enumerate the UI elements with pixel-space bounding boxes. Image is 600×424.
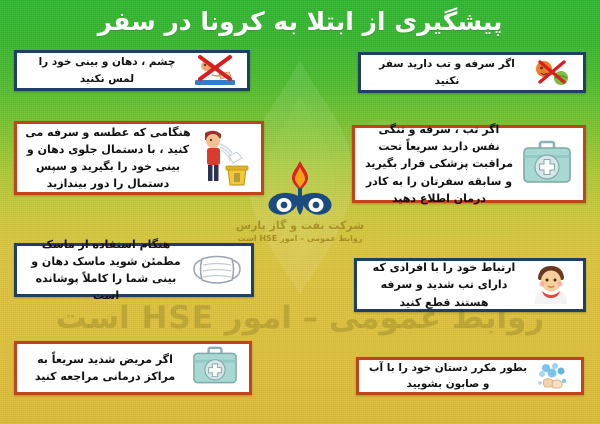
no-travel-icon xyxy=(529,54,575,92)
nioc-flame-logo-icon xyxy=(263,160,337,218)
tip-text: اگر مریض شدید سریعاً به مراکز درمانی مرا… xyxy=(21,351,189,385)
tip-severe-illness: اگر مریض شدید سریعاً به مراکز درمانی مرا… xyxy=(14,341,252,395)
medical-kit-icon xyxy=(189,345,241,391)
tip-text: اگر سرفه و تب دارید سفر نکنید xyxy=(365,56,529,89)
tip-text: اگر تب ، سرفه و تنگی نفس دارید سریعاً تح… xyxy=(359,121,519,206)
tip-no-travel: اگر سرفه و تب دارید سفر نکنید xyxy=(358,52,586,93)
tip-mask-fit: هنگام استفاده از ماسک مطمئن شوید ماسک ده… xyxy=(14,243,254,297)
tip-avoid-contact: ارتباط خود را با افرادی که دارای تب شدید… xyxy=(354,258,586,312)
infographic-poster: روابط عمومی – امور HSE است پیشگیری از اب… xyxy=(0,0,600,424)
no-touch-face-icon xyxy=(193,52,239,90)
tip-text: ارتباط خود را با افرادی که دارای تب شدید… xyxy=(361,259,527,310)
page-title: پیشگیری از ابتلا به کرونا در سفر xyxy=(0,4,600,40)
company-department: روابط عمومی – امور HSE است xyxy=(234,234,366,243)
tip-text: هنگامی که عطسه و سرفه می کنید ، با دستما… xyxy=(21,124,195,192)
tip-cover-cough: هنگامی که عطسه و سرفه می کنید ، با دستما… xyxy=(14,121,264,195)
tip-seek-care: اگر تب ، سرفه و تنگی نفس دارید سریعاً تح… xyxy=(352,125,586,203)
sneeze-tissue-icon xyxy=(195,125,253,191)
company-name: شرکت نفت و گاز پارس xyxy=(234,219,366,232)
wash-hands-icon xyxy=(533,360,573,392)
tip-text: چشم ، دهان و بینی خود را لمس نکنید xyxy=(21,54,193,87)
face-mask-icon xyxy=(191,249,243,291)
tip-text: بطور مکرر دستان خود را با آب و صابون بشو… xyxy=(363,360,533,393)
tip-no-touch-face: چشم ، دهان و بینی خود را لمس نکنید xyxy=(14,50,250,91)
medical-kit-icon xyxy=(519,134,575,194)
tip-wash-hands: بطور مکرر دستان خود را با آب و صابون بشو… xyxy=(356,357,584,395)
tip-text: هنگام استفاده از ماسک مطمئن شوید ماسک ده… xyxy=(21,236,191,304)
sick-person-icon xyxy=(527,263,575,307)
